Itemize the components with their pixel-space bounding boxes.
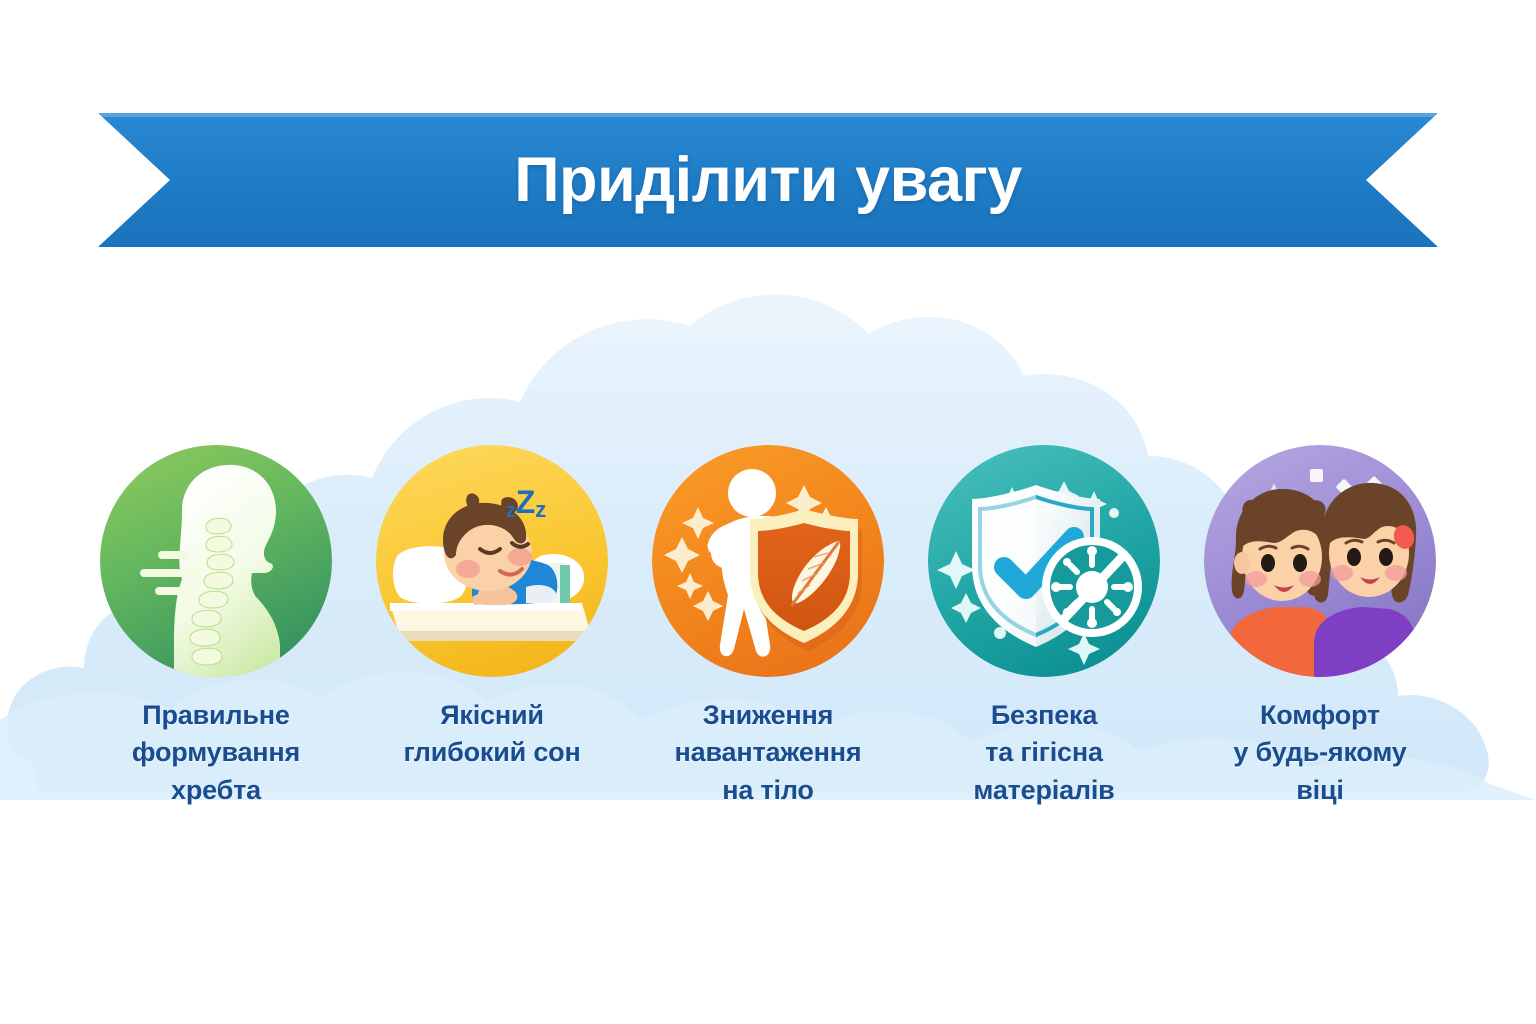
feature-item-sleep[interactable]: zZz Якісний глибокий сон [366, 445, 618, 772]
caption-line: у будь-якому [1233, 737, 1406, 767]
icon-circle-load [652, 445, 884, 677]
feature-caption-sleep: Якісний глибокий сон [403, 697, 580, 772]
feature-caption-safety: Безпека та гігісна матеріалів [973, 697, 1114, 809]
caption-line: та гігісна [985, 737, 1103, 767]
caption-line: матеріалів [973, 775, 1114, 805]
caption-line: формування [132, 737, 300, 767]
feature-caption-spine: Правильне формування хребта [132, 697, 300, 809]
caption-line: Якісний [440, 700, 544, 730]
infographic-root: Приділити увагу [0, 0, 1536, 1024]
caption-line: Безпека [991, 700, 1097, 730]
caption-line: хребта [171, 775, 261, 805]
caption-line: Комфорт [1260, 700, 1380, 730]
feature-item-load[interactable]: Зниження навантаження на тіло [642, 445, 894, 809]
icon-circle-spine [100, 445, 332, 677]
child-spine-posture-icon [100, 445, 332, 677]
icon-circle-safety [928, 445, 1160, 677]
feature-item-comfort[interactable]: Комфорт у будь-якому віці [1194, 445, 1446, 809]
feature-item-safety[interactable]: Безпека та гігісна матеріалів [918, 445, 1170, 809]
feature-list: Правильне формування хребта [90, 445, 1446, 809]
banner: Приділити увагу [98, 113, 1438, 247]
icon-circle-comfort [1204, 445, 1436, 677]
feature-caption-load: Зниження навантаження на тіло [675, 697, 862, 809]
caption-line: навантаження [675, 737, 862, 767]
caption-line: Зниження [703, 700, 833, 730]
two-smiling-children-icon [1204, 445, 1436, 677]
caption-line: віці [1296, 775, 1343, 805]
feature-caption-comfort: Комфорт у будь-якому віці [1233, 697, 1406, 809]
shield-check-antibacterial-icon [928, 445, 1160, 677]
icon-circle-sleep: zZz [376, 445, 608, 677]
sleeping-child-icon: zZz [376, 445, 608, 677]
page-title: Приділити увагу [98, 113, 1438, 247]
caption-line: Правильне [142, 700, 289, 730]
feature-item-spine[interactable]: Правильне формування хребта [90, 445, 342, 809]
caption-line: на тіло [722, 775, 813, 805]
caption-line: глибокий сон [403, 737, 580, 767]
body-load-shield-feather-icon [652, 445, 884, 677]
